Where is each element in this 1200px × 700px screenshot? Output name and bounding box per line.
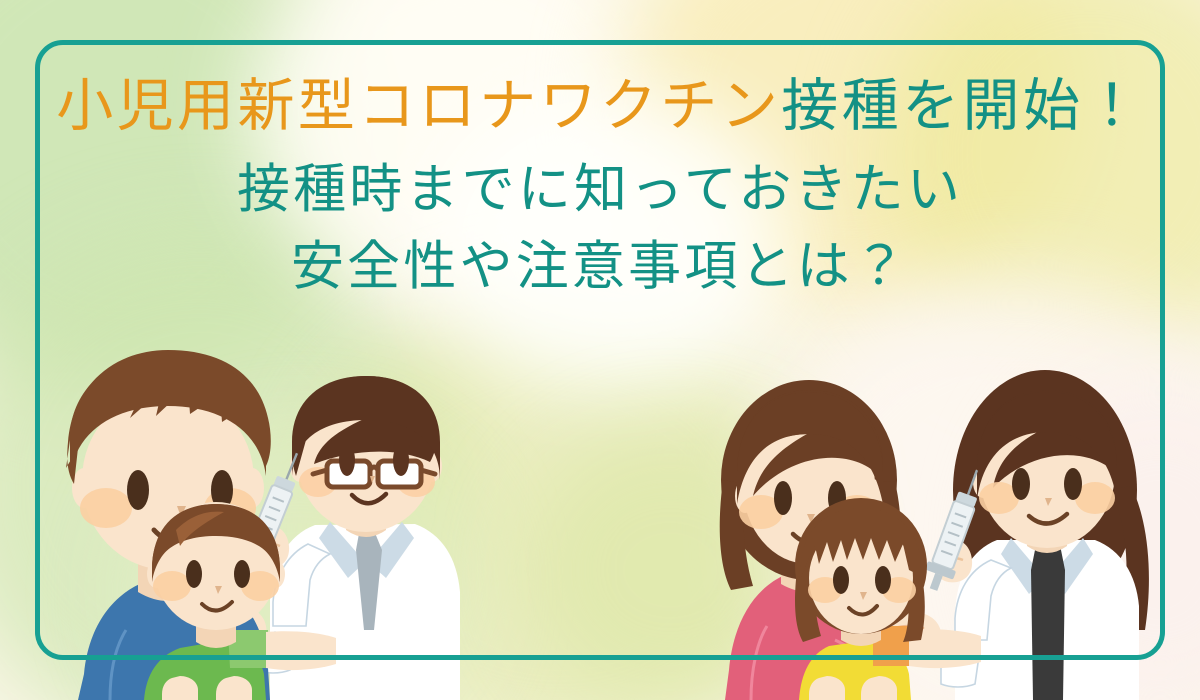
headline-line-1: 小児用新型コロナワクチン接種を開始！ — [0, 78, 1200, 135]
illustration-left-group — [30, 330, 530, 700]
headline-line-1-orange: 小児用新型コロナワクチン — [56, 73, 781, 139]
headline-block: 小児用新型コロナワクチン接種を開始！ 接種時までに知っておきたい 安全性や注意事… — [0, 78, 1200, 293]
poster-canvas: 小児用新型コロナワクチン接種を開始！ 接種時までに知っておきたい 安全性や注意事… — [0, 0, 1200, 700]
headline-line-2: 接種時までに知っておきたい — [0, 163, 1200, 216]
illustration-right-group — [715, 340, 1195, 700]
headline-line-1-teal: 接種を開始！ — [781, 73, 1144, 139]
headline-line-3: 安全性や注意事項とは？ — [0, 240, 1200, 293]
